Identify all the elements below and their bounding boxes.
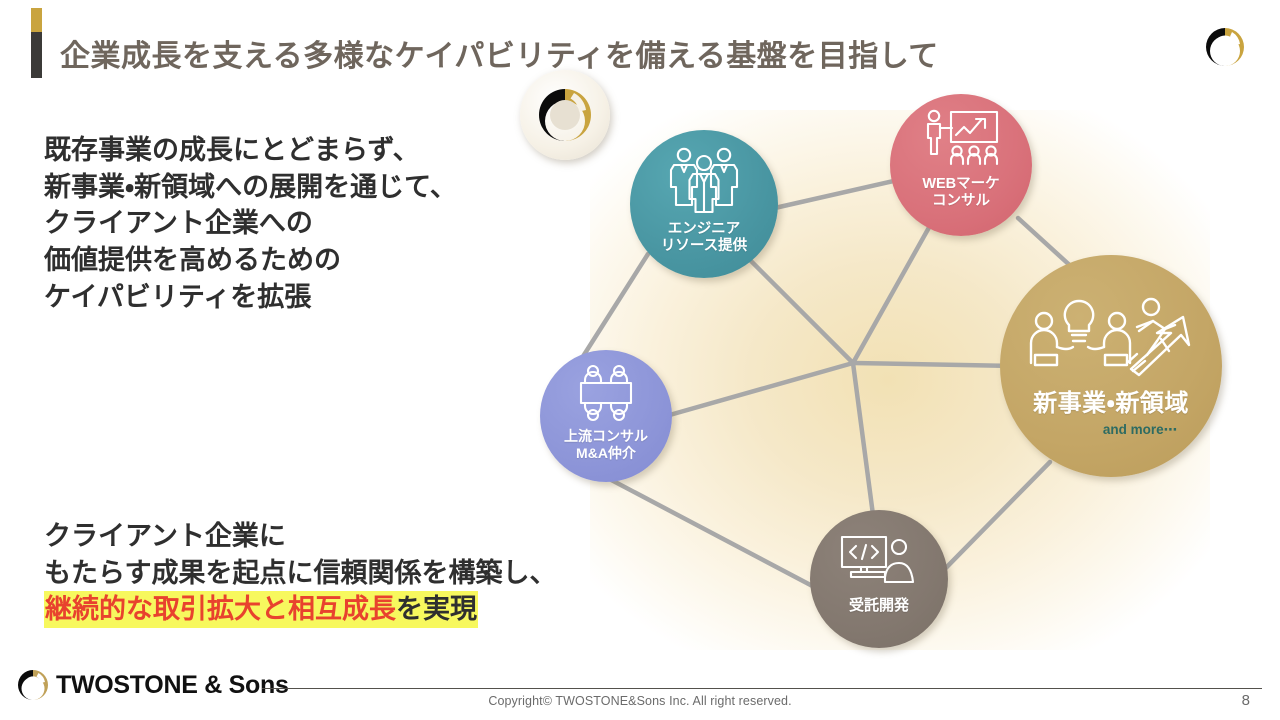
- title-accent-bar: [31, 8, 42, 78]
- diagram-node-webmarke[interactable]: WEBマーケ コンサル: [890, 94, 1032, 236]
- diagram-node-dev[interactable]: 受託開発: [810, 510, 948, 648]
- lead-top-line-3: クライアント企業への: [44, 205, 457, 242]
- title-accent-gold-segment: [31, 8, 42, 32]
- title-accent-dark-segment: [31, 32, 42, 78]
- diagram-node-newbiz-label: 新事業・新領域: [1033, 390, 1189, 418]
- engineer-label-line-2: リソース提供: [661, 238, 747, 254]
- highlighted-phrase: 継続的な取引拡大と相互成長を実現: [44, 591, 478, 628]
- copyright-text: Copyright© TWOSTONE&Sons Inc. All right …: [0, 694, 1280, 708]
- footer-divider: [262, 688, 1262, 689]
- three-people-icon: [666, 144, 742, 219]
- page-title: 企業成長を支える多様なケイパビリティを備える基盤を目指して: [60, 31, 939, 75]
- engineer-label-line-1: エンジニア: [668, 221, 741, 237]
- meeting-table-icon: [569, 364, 643, 427]
- edge-hub-dev: [853, 363, 875, 530]
- webmarke-label-line-2: コンサル: [932, 193, 990, 209]
- corner-logo-mark: [1202, 24, 1248, 70]
- monitor-code-person-icon: [839, 534, 919, 591]
- edge-hub-newbiz: [853, 363, 1015, 366]
- edge-webmarke-newbiz: [1018, 218, 1075, 270]
- highlighted-red-text: 継続的な取引拡大と相互成長: [45, 594, 396, 624]
- edge-hub-consul: [652, 363, 853, 420]
- lead-top-line-1: 既存事業の成長にとどまらず、: [44, 132, 457, 169]
- diagram-node-engineer[interactable]: エンジニア リソース提供: [630, 130, 778, 278]
- diagram-node-consul-label: 上流コンサル M&A仲介: [564, 428, 648, 461]
- highlighted-plain-text: を実現: [396, 594, 477, 624]
- lead-top-line-2: 新事業・新領域への展開を通じて、: [44, 169, 457, 206]
- lead-top-line-5: ケイパビリティを拡張: [44, 279, 457, 316]
- diagram-node-consul[interactable]: 上流コンサル M&A仲介: [540, 350, 672, 482]
- diagram-node-webmarke-label: WEBマーケ コンサル: [922, 176, 999, 210]
- lead-bottom-line-3: 継続的な取引拡大と相互成長を実現: [44, 591, 556, 628]
- lead-paragraph-bottom: クライアント企業に もたらす成果を起点に信頼関係を構築し、 継続的な取引拡大と相…: [44, 518, 556, 628]
- diagram-node-dev-label: 受託開発: [849, 597, 909, 615]
- edge-engineer-webmarke: [766, 180, 898, 210]
- diagram-node-newbiz[interactable]: 新事業・新領域 and more⋯: [1000, 255, 1222, 477]
- presenter-chart-audience-icon: [921, 108, 1001, 173]
- webmarke-label-line-1: WEBマーケ: [922, 176, 999, 192]
- lead-bottom-line-1: クライアント企業に: [44, 518, 556, 555]
- page-number: 8: [1242, 692, 1250, 709]
- diagram-node-newbiz-sublabel: and more⋯: [1103, 422, 1177, 438]
- edge-engineer-consul: [582, 254, 648, 358]
- lead-bottom-line-2: もたらす成果を起点に信頼関係を構築し、: [44, 555, 556, 592]
- edge-consul-dev: [600, 474, 820, 590]
- lead-paragraph-top: 既存事業の成長にとどまらず、 新事業・新領域への展開を通じて、 クライアント企業…: [44, 132, 457, 316]
- diagram-node-engineer-label: エンジニア リソース提供: [661, 221, 747, 255]
- consul-label-line-2: M&A仲介: [576, 445, 636, 461]
- edge-dev-newbiz: [934, 462, 1050, 580]
- consul-label-line-1: 上流コンサル: [564, 428, 648, 444]
- lead-top-line-4: 価値提供を高めるための: [44, 242, 457, 279]
- slide-canvas: 企業成長を支える多様なケイパビリティを備える基盤を目指して 既存事業の成長にとど…: [0, 0, 1280, 720]
- idea-meeting-and-growth-arrow-icon: [1027, 297, 1195, 384]
- capability-network-diagram: エンジニア リソース提供: [520, 70, 1280, 670]
